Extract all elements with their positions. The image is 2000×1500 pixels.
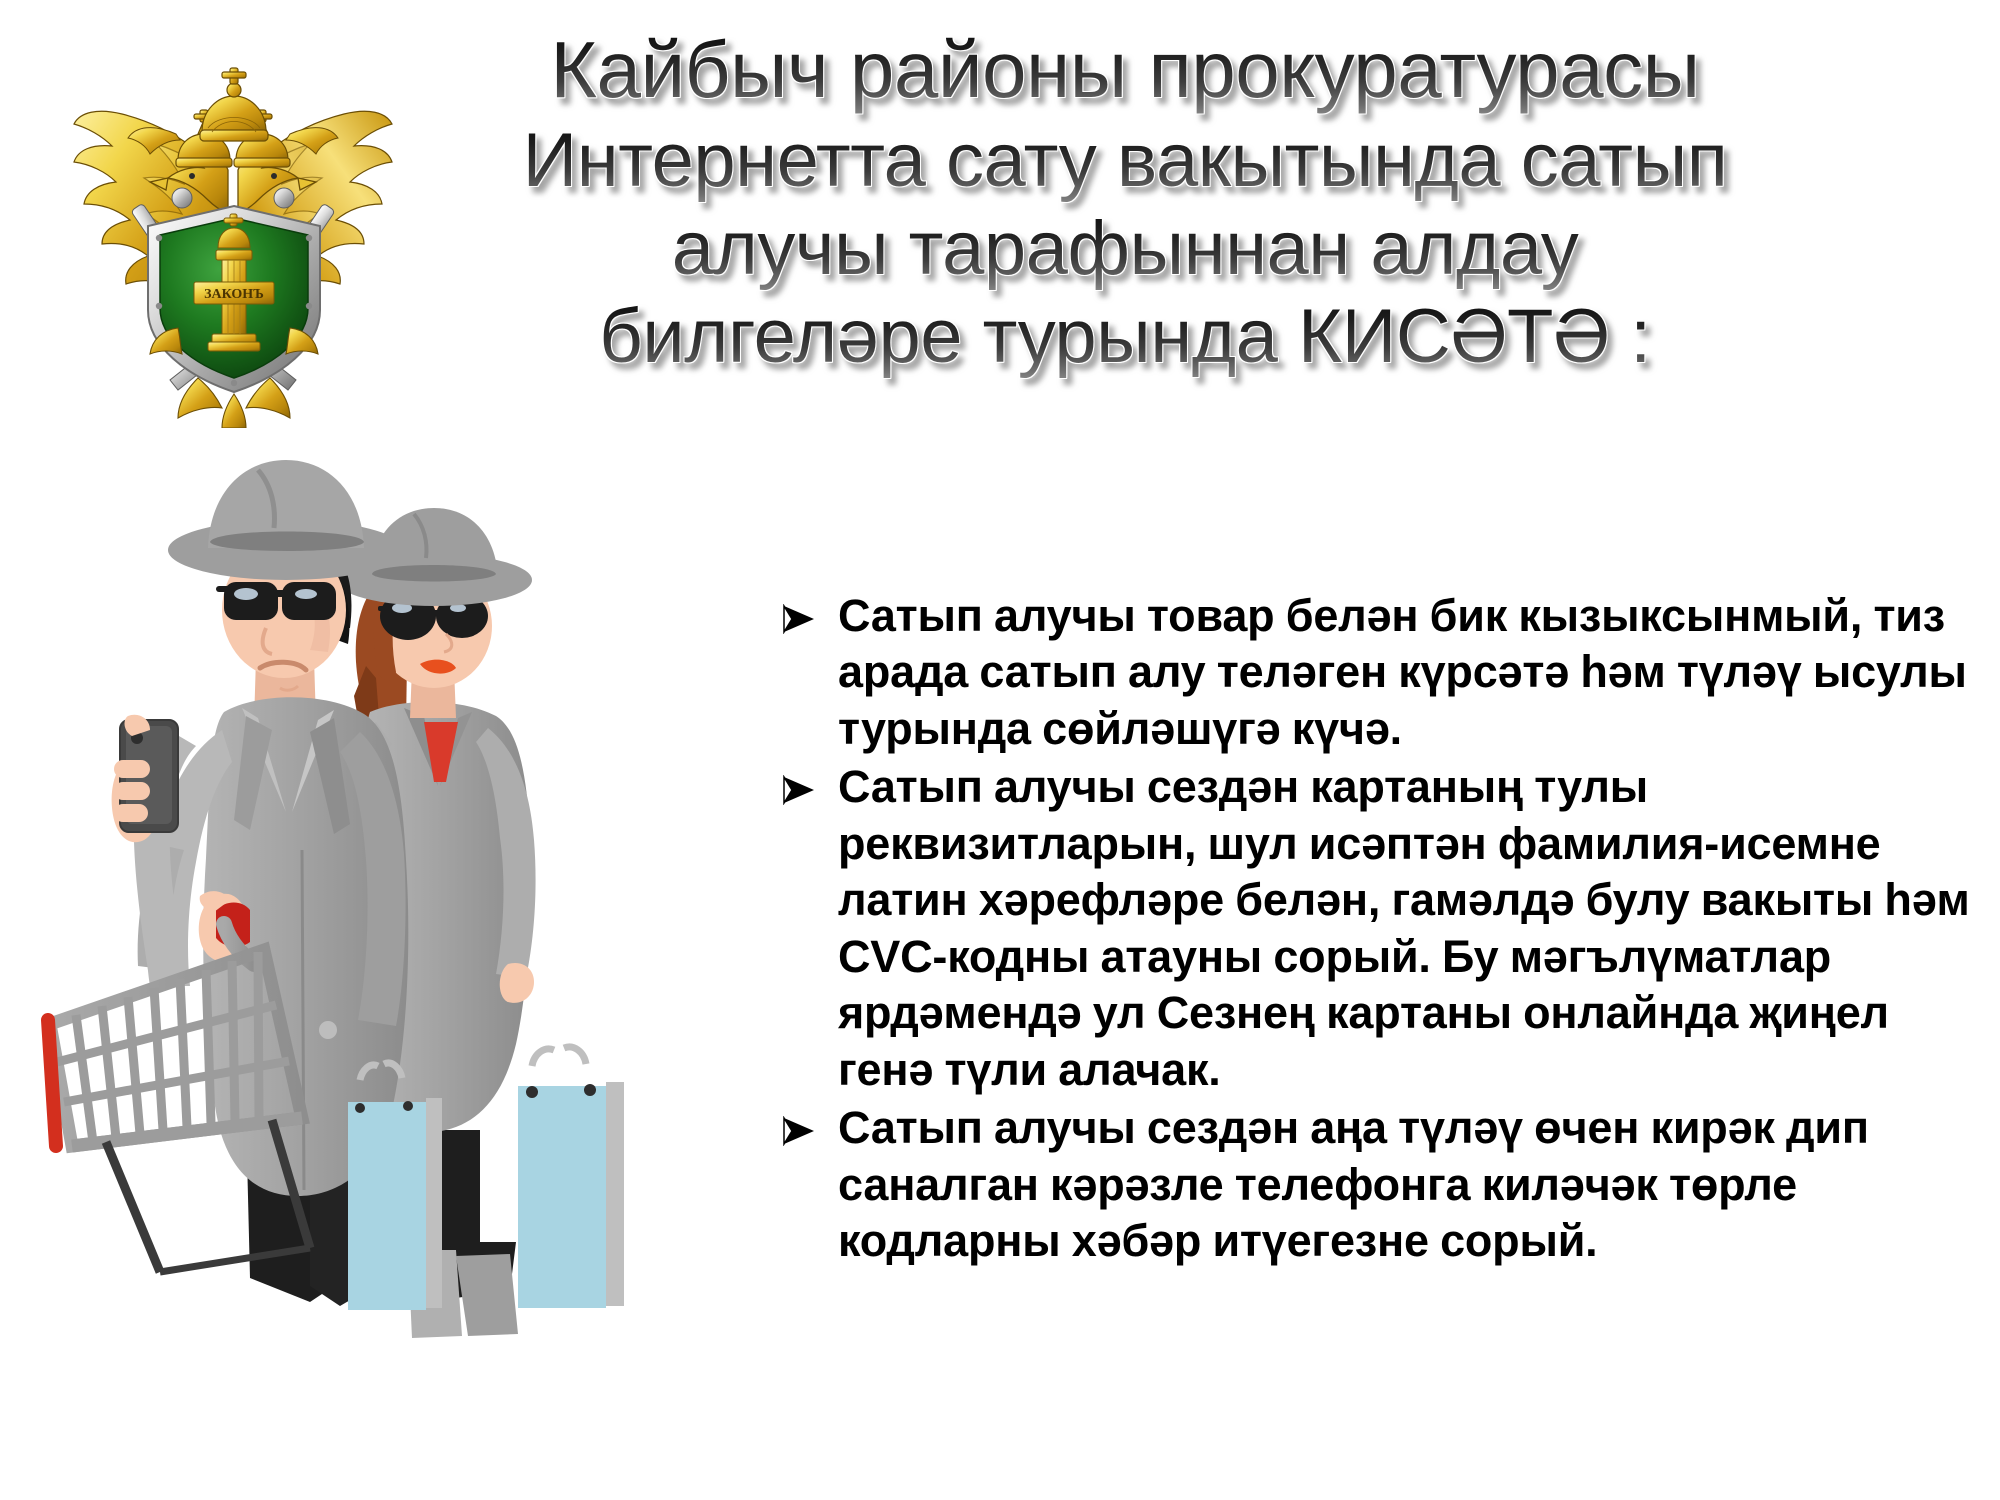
title-line-4: билгеләре турында КИСӘТӘ : [330,293,1920,381]
arrowhead-bullet-icon [782,759,838,805]
bullet-text-3: Сатып алучы сездән аңа түләү өчен кирәк … [838,1100,1992,1269]
list-item: Сатып алучы товар белән бик кызыксынмый,… [782,588,1992,757]
man-fedora [168,460,404,580]
title-line-1: Кайбыч районы прокуратурасы [330,24,1920,117]
eagle-crowns [176,68,290,167]
man-sunglasses [216,582,336,620]
warning-bullet-list: Сатып алучы товар белән бик кызыксынмый,… [782,588,1992,1272]
prosecutor-shield: ЗАКОНЪ [148,206,320,392]
slide-title: Кайбыч районы прокуратурасы Интернетта с… [330,24,1920,381]
title-line-2: Интернетта сату вакытында сатып [330,117,1920,205]
slide-canvas: ЗАКОНЪ Кайбыч районы прокуратурасы Интер… [0,0,2000,1500]
list-item: Сатып алучы сездән аңа түләү өчен кирәк … [782,1100,1992,1269]
zakon-text: ЗАКОНЪ [204,287,264,302]
zakon-banner: ЗАКОНЪ [194,282,274,304]
bullet-text-1: Сатып алучы товар белән бик кызыксынмый,… [838,588,1992,757]
title-line-3: алучы тарафыннан алдау [330,205,1920,293]
arrowhead-bullet-icon [782,1100,838,1146]
shopping-bag-right [518,1047,624,1308]
scammer-couple-illustration [10,430,790,1360]
man-hand-with-phone [112,715,178,842]
bullet-text-2: Сатып алучы сездән картаның тулы реквизи… [838,759,1992,1098]
list-item: Сатып алучы сездән картаның тулы реквизи… [782,759,1992,1098]
arrowhead-bullet-icon [782,588,838,634]
